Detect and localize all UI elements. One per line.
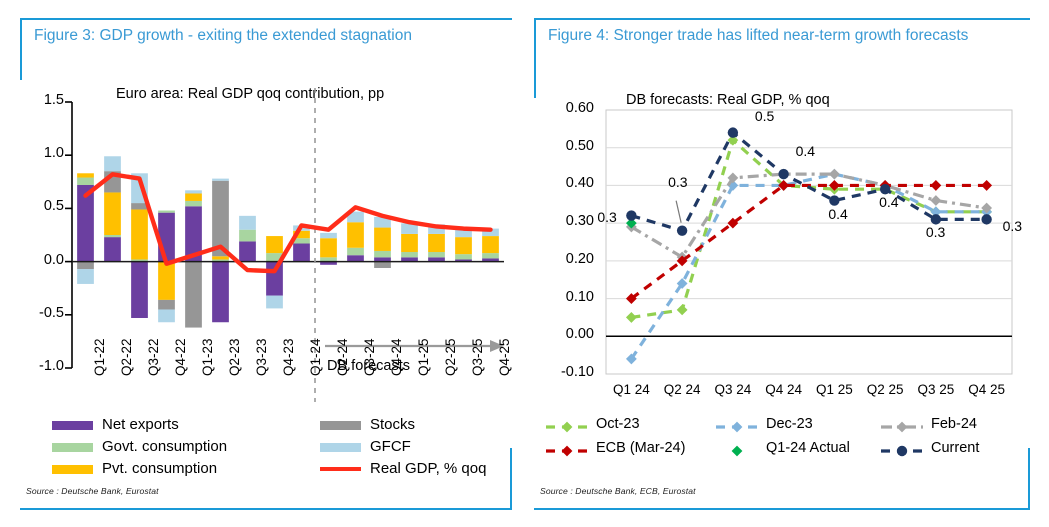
legend-label: Q1-24 Actual [766, 440, 850, 456]
y-tick-label: 0.5 [20, 198, 64, 214]
legend-label: Govt. consumption [102, 438, 227, 455]
figure-3-plot: Euro area: Real GDP qoq contribution, pp… [20, 80, 512, 430]
legend-marker [879, 441, 925, 461]
figure-3-canvas [20, 80, 512, 430]
y-tick-label: 0.40 [538, 175, 594, 191]
y-tick-label: 0.30 [538, 213, 594, 229]
data-point-label: 0.5 [755, 108, 774, 124]
y-tick-label: 0.60 [538, 100, 594, 116]
legend-label: Dec-23 [766, 416, 813, 432]
y-tick-label: -0.5 [20, 305, 64, 321]
legend-label: Feb-24 [931, 416, 977, 432]
figure-4-canvas [534, 92, 1030, 412]
data-point-label: 0.3 [1003, 218, 1022, 234]
data-point-label: 0.4 [828, 206, 847, 222]
legend-label: Net exports [102, 416, 179, 433]
legend-color-swatch [52, 421, 93, 430]
data-point-label: 0.4 [879, 194, 898, 210]
x-tick-label: Q4-25 [497, 338, 512, 376]
legend-color-swatch [320, 421, 361, 430]
y-tick-label: 1.5 [20, 92, 64, 108]
legend-marker [544, 417, 590, 437]
legend-marker [714, 417, 760, 437]
x-tick-label: Q2-23 [227, 338, 242, 376]
x-tick-label: Q1-22 [92, 338, 107, 376]
x-tick-label: Q3-22 [146, 338, 161, 376]
legend-label: ECB (Mar-24) [596, 440, 685, 456]
figure-3-title: Figure 3: GDP growth - exiting the exten… [34, 26, 474, 45]
legend-label: Current [931, 440, 979, 456]
figure-4-legend: Oct-23Dec-23Feb-24ECB (Mar-24)Q1-24 Actu… [534, 414, 1030, 480]
legend-marker [879, 417, 925, 437]
x-tick-label: Q1-23 [200, 338, 215, 376]
legend-color-swatch [320, 443, 361, 452]
x-tick-label: Q3-23 [254, 338, 269, 376]
panel-top-rule [20, 18, 512, 20]
x-tick-label: Q2-25 [443, 338, 458, 376]
legend-line-swatch [320, 467, 361, 471]
figure-4-panel: Figure 4: Stronger trade has lifted near… [534, 18, 1030, 510]
legend-label: GFCF [370, 438, 411, 455]
data-point-label: 0.3 [668, 174, 687, 190]
x-tick-label: Q1-25 [416, 338, 431, 376]
figure-3-source: Source : Deutsche Bank, Eurostat [26, 486, 159, 496]
x-tick-label: Q1-24 [308, 338, 323, 376]
panel-left-rule [20, 18, 22, 80]
panel-bottom-rule [20, 508, 512, 510]
panel-top-rule [534, 18, 1030, 20]
y-tick-label: 1.0 [20, 145, 64, 161]
forecast-annotation-label: DB forecasts [327, 358, 410, 374]
x-tick-label: Q4 25 [957, 382, 1017, 397]
legend-color-swatch [52, 443, 93, 452]
legend-marker [714, 441, 760, 461]
figure-4-plot: DB forecasts: Real GDP, % qoq 0.600.500.… [534, 92, 1030, 412]
figure-4-title: Figure 4: Stronger trade has lifted near… [548, 26, 978, 45]
figures-page: Figure 3: GDP growth - exiting the exten… [0, 0, 1049, 527]
panel-left-rule [534, 18, 536, 98]
figure-3-legend: Net exportsStocksGovt. consumptionGFCFPv… [20, 414, 512, 480]
y-tick-label: 0.0 [20, 252, 64, 268]
y-tick-label: 0.10 [538, 289, 594, 305]
data-point-label: 0.4 [796, 143, 815, 159]
y-tick-label: -1.0 [20, 358, 64, 374]
data-point-label: 0.3 [926, 224, 945, 240]
figure-3-panel: Figure 3: GDP growth - exiting the exten… [20, 18, 512, 510]
y-tick-label: 0.00 [538, 326, 594, 342]
legend-label: Stocks [370, 416, 415, 433]
y-tick-label: 0.20 [538, 251, 594, 267]
legend-label: Real GDP, % qoq [370, 460, 486, 477]
panel-bottom-rule [534, 508, 1030, 510]
figure-4-source: Source : Deutsche Bank, ECB, Eurostat [540, 486, 696, 496]
legend-marker [544, 441, 590, 461]
y-tick-label: -0.10 [538, 364, 594, 380]
x-tick-label: Q4-22 [173, 338, 188, 376]
x-tick-label: Q4-23 [281, 338, 296, 376]
legend-label: Oct-23 [596, 416, 640, 432]
x-tick-label: Q2-22 [119, 338, 134, 376]
legend-color-swatch [52, 465, 93, 474]
y-tick-label: 0.50 [538, 138, 594, 154]
data-point-label: 0.3 [597, 209, 616, 225]
x-tick-label: Q3-25 [470, 338, 485, 376]
legend-label: Pvt. consumption [102, 460, 217, 477]
